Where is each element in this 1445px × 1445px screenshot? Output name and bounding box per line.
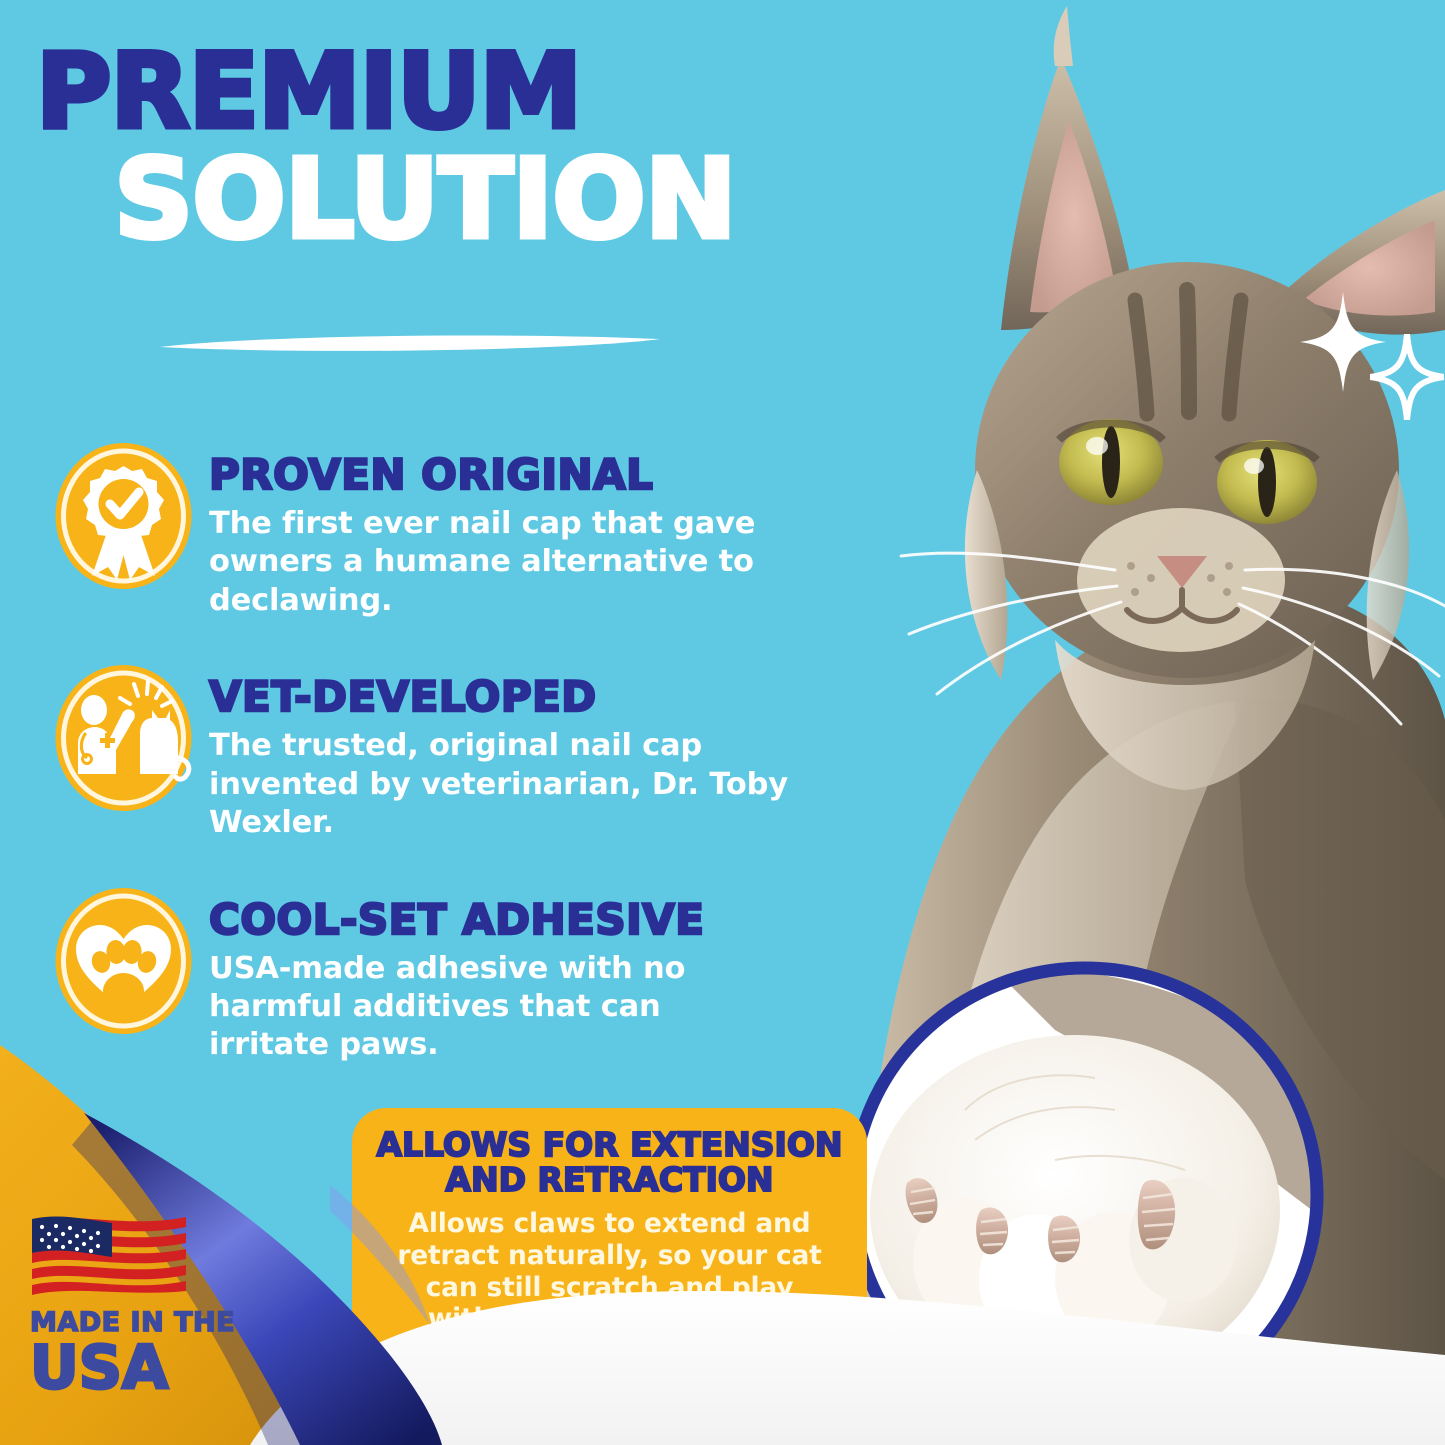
feature-title: VET-DEVELOPED (209, 676, 842, 718)
feature-list: PROVEN ORIGINAL The first ever nail cap … (52, 440, 842, 1107)
feature-description: The trusted, original nail cap invented … (209, 727, 789, 842)
feature-title: COOL-SET ADHESIVE (209, 899, 842, 941)
cat-eye-right (1217, 440, 1317, 524)
feature-text-block: VET-DEVELOPED The trusted, original nail… (209, 662, 842, 842)
feature-description: The first ever nail cap that gave owners… (209, 505, 789, 620)
made-in-usa-badge: MADE IN THE USA (30, 1205, 270, 1399)
made-in-the-label: MADE IN THE (30, 1309, 270, 1336)
headline-solution: SOLUTION (36, 146, 826, 254)
usa-label: USA (30, 1338, 270, 1399)
feature-text-block: PROVEN ORIGINAL The first ever nail cap … (209, 440, 842, 620)
cat-eye-left (1059, 419, 1163, 505)
feature-item-proven-original: PROVEN ORIGINAL The first ever nail cap … (52, 440, 842, 620)
sparkle-outline-icon (1370, 334, 1444, 420)
heart-paw-print-icon (52, 885, 195, 1037)
headline-block: PREMIUM SOLUTION (36, 44, 826, 254)
headline-premium: PREMIUM (36, 44, 826, 142)
feature-item-vet-developed: VET-DEVELOPED The trusted, original nail… (52, 662, 842, 842)
infographic-canvas: PREMIUM SOLUTION P (0, 0, 1445, 1445)
veterinarian-high-five-cat-icon (52, 662, 195, 814)
award-badge-checkmark-icon (52, 440, 195, 592)
swoosh-divider-icon (160, 330, 660, 358)
usa-flag-icon (30, 1205, 190, 1297)
feature-title: PROVEN ORIGINAL (209, 454, 842, 496)
